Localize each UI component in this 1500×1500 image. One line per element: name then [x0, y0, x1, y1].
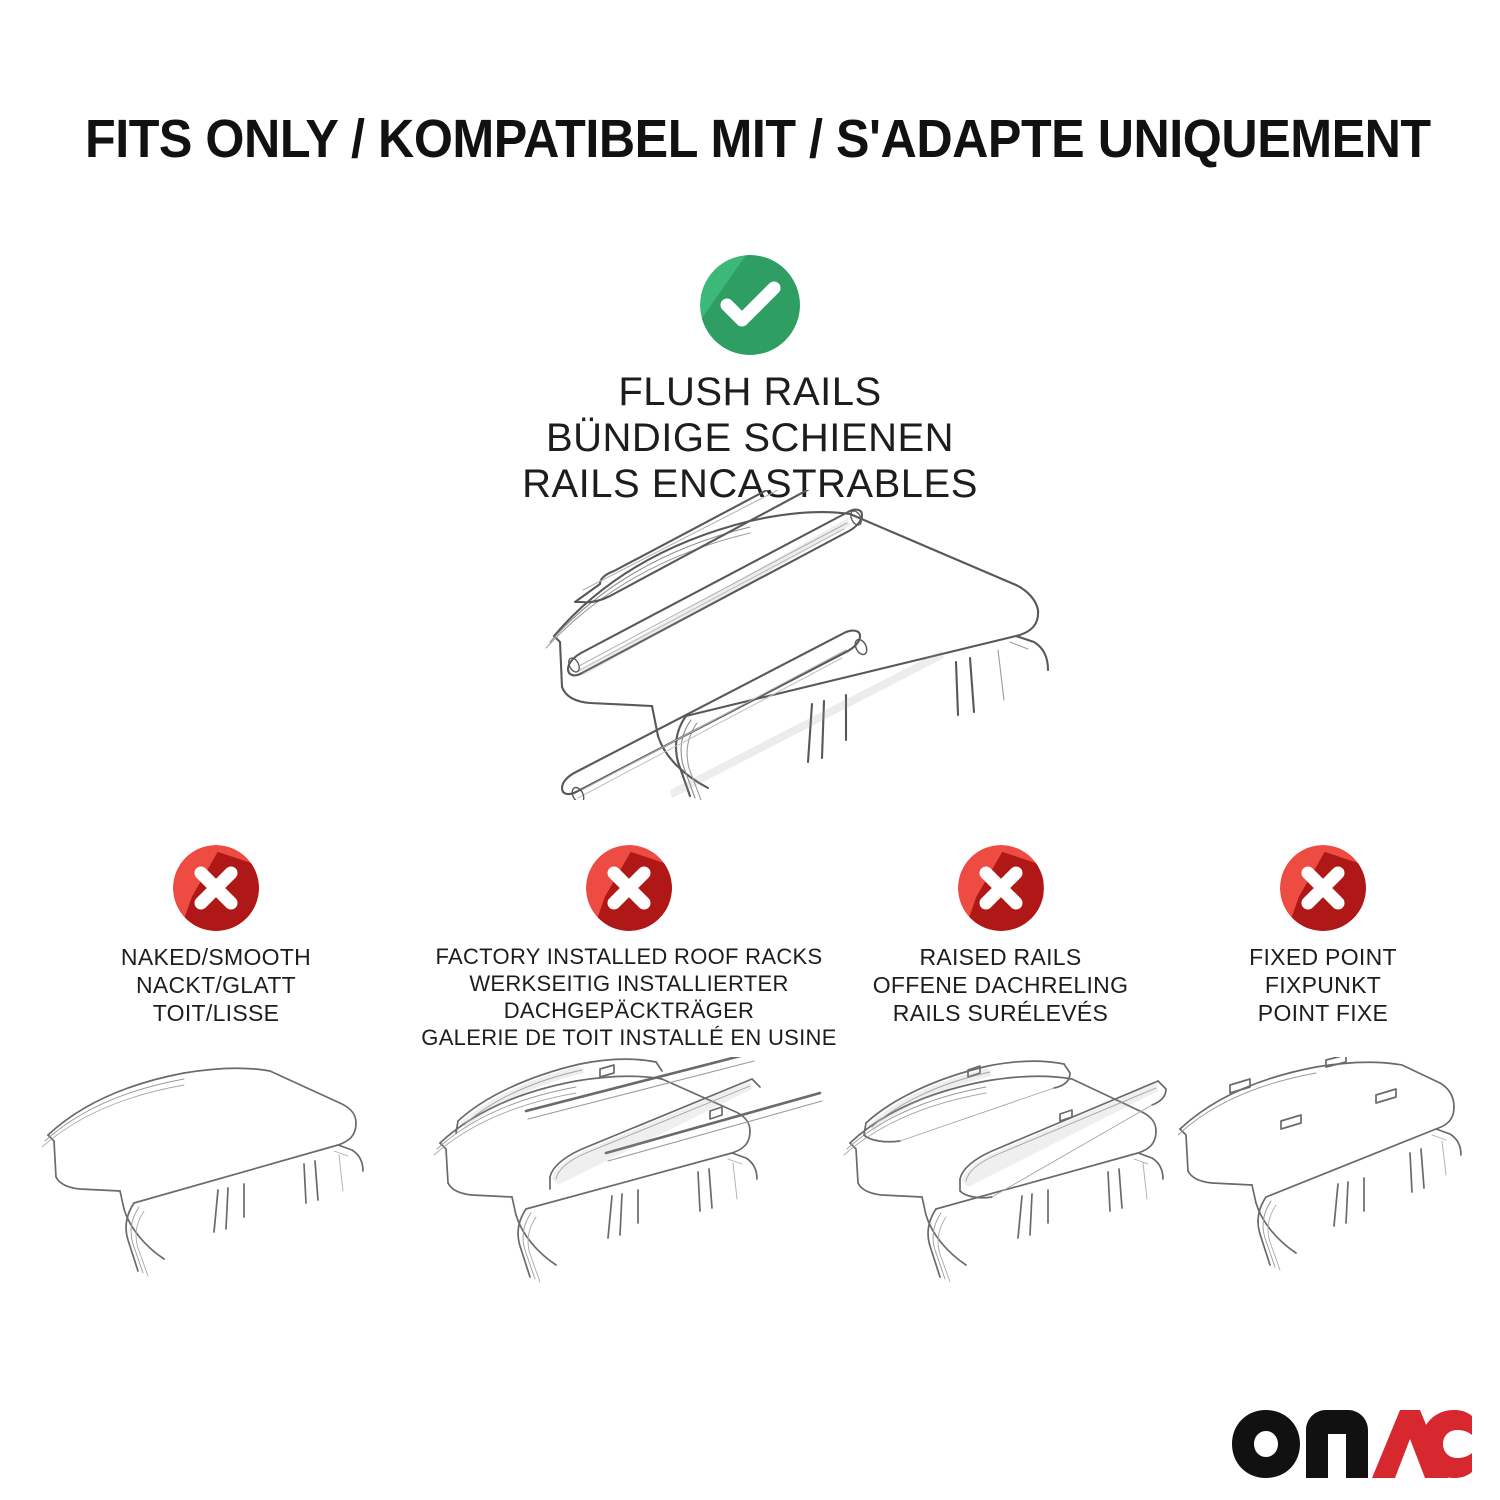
label-line-2: POINT FIXE	[1178, 999, 1468, 1027]
incompatible-label-raised-rails: RAISED RAILS OFFENE DACHRELING RAILS SUR…	[828, 943, 1173, 1027]
label-line-2: DACHGEPÄCKTRÄGER	[400, 997, 858, 1024]
x-circle-icon	[586, 845, 672, 931]
incompatible-label-fixed-point: FIXED POINT FIXPUNKT POINT FIXE	[1178, 943, 1468, 1027]
check-circle-icon	[700, 255, 800, 355]
x-circle-icon	[958, 845, 1044, 931]
label-line-1: FIXPUNKT	[1178, 971, 1468, 999]
label-line-0: FACTORY INSTALLED ROOF RACKS	[400, 943, 858, 970]
label-line-1: NACKT/GLATT	[42, 971, 390, 999]
label-line-1: WERKSEITIG INSTALLIERTER	[400, 970, 858, 997]
compatible-label-line-1: BÜNDIGE SCHIENEN	[0, 415, 1500, 461]
compatible-section: FLUSH RAILS BÜNDIGE SCHIENEN RAILS ENCAS…	[0, 255, 1500, 507]
incompatible-item-factory-roof-racks: FACTORY INSTALLED ROOF RACKS WERKSEITIG …	[400, 845, 858, 1051]
car-roof-with-fixed-points-illustration	[1178, 1057, 1468, 1287]
car-roof-with-flush-rails-illustration	[450, 490, 1070, 800]
compatible-labels: FLUSH RAILS BÜNDIGE SCHIENEN RAILS ENCAS…	[0, 369, 1500, 507]
label-line-0: FIXED POINT	[1178, 943, 1468, 971]
car-roof-with-raised-rails-illustration	[828, 1057, 1173, 1287]
page-title: FITS ONLY / KOMPATIBEL MIT / S'ADAPTE UN…	[85, 108, 1331, 170]
label-line-2: RAILS SURÉLEVÉS	[828, 999, 1173, 1027]
omac-logo	[1232, 1408, 1472, 1480]
car-roof-bare-illustration	[42, 1057, 390, 1287]
logo-letter-o	[1232, 1410, 1300, 1478]
x-glyph	[1280, 845, 1366, 931]
x-glyph	[958, 845, 1044, 931]
compatible-label-line-0: FLUSH RAILS	[0, 369, 1500, 415]
x-glyph	[586, 845, 672, 931]
incompatible-item-fixed-point: FIXED POINT FIXPUNKT POINT FIXE	[1178, 845, 1468, 1027]
incompatible-label-factory-roof-racks: FACTORY INSTALLED ROOF RACKS WERKSEITIG …	[400, 943, 858, 1051]
label-line-1: OFFENE DACHRELING	[828, 971, 1173, 999]
incompatible-item-raised-rails: RAISED RAILS OFFENE DACHRELING RAILS SUR…	[828, 845, 1173, 1027]
fitment-infographic: FITS ONLY / KOMPATIBEL MIT / S'ADAPTE UN…	[0, 0, 1500, 1500]
car-roof-with-factory-crossbars-illustration	[400, 1057, 858, 1287]
check-glyph	[700, 255, 800, 355]
x-circle-icon	[1280, 845, 1366, 931]
x-glyph	[173, 845, 259, 931]
x-circle-icon	[173, 845, 259, 931]
incompatible-label-naked-smooth: NAKED/SMOOTH NACKT/GLATT TOIT/LISSE	[42, 943, 390, 1027]
label-line-2: TOIT/LISSE	[42, 999, 390, 1027]
incompatible-item-naked-smooth: NAKED/SMOOTH NACKT/GLATT TOIT/LISSE	[42, 845, 390, 1027]
label-line-0: RAISED RAILS	[828, 943, 1173, 971]
label-line-3: GALERIE DE TOIT INSTALLÉ EN USINE	[400, 1024, 858, 1051]
label-line-0: NAKED/SMOOTH	[42, 943, 390, 971]
logo-letter-m	[1306, 1410, 1368, 1478]
incompatible-section: NAKED/SMOOTH NACKT/GLATT TOIT/LISSE	[0, 845, 1500, 1265]
